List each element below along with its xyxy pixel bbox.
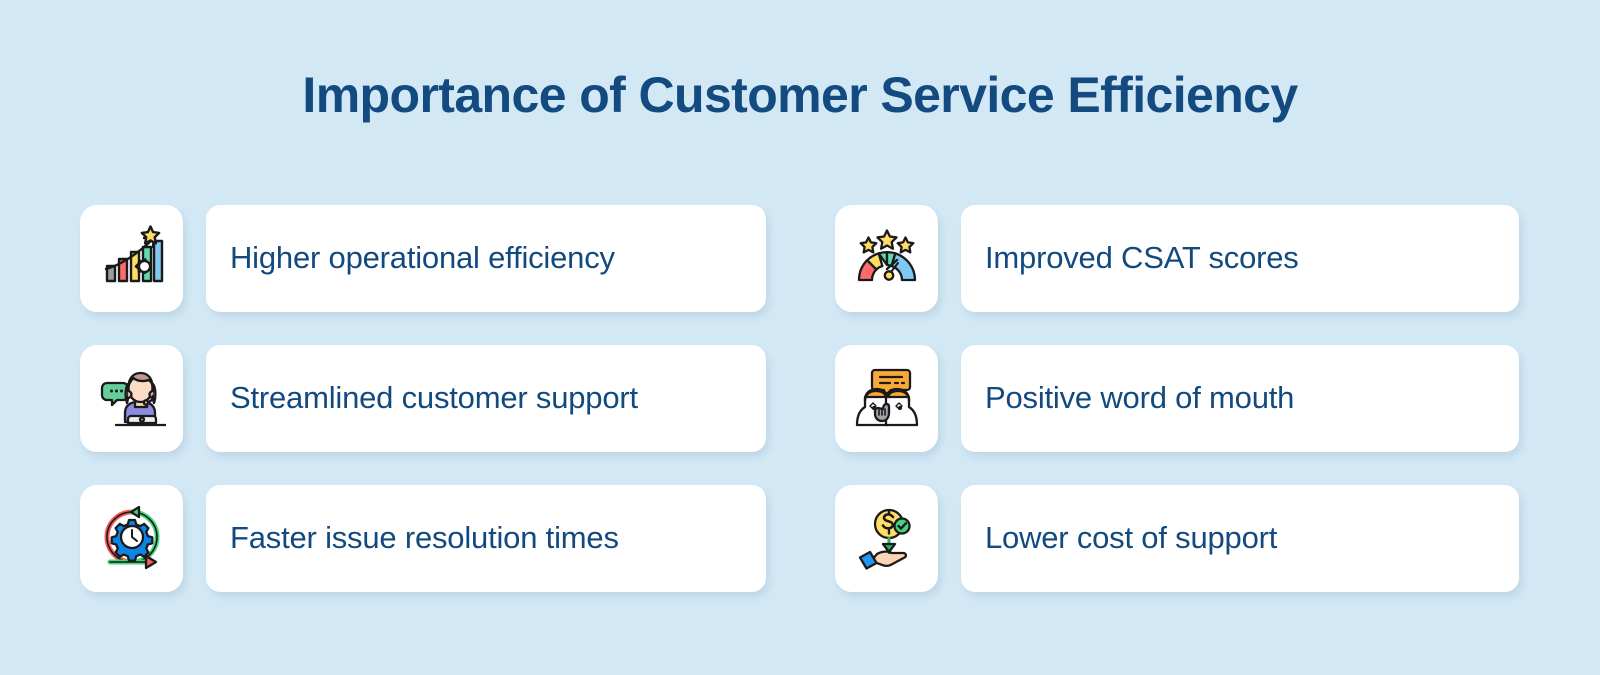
list-item[interactable]: Higher operational efficiency: [80, 205, 766, 312]
list-item[interactable]: Streamlined customer support: [80, 345, 766, 452]
icon-tile: [80, 345, 183, 452]
list-item[interactable]: Lower cost of support: [835, 485, 1519, 592]
two-faces-speech-bubble-icon: [853, 365, 921, 433]
text-card[interactable]: Lower cost of support: [961, 485, 1519, 592]
text-card[interactable]: Streamlined customer support: [206, 345, 766, 452]
list-item-label: Improved CSAT scores: [961, 241, 1315, 275]
list-item-label: Streamlined customer support: [206, 381, 654, 415]
icon-tile: [80, 205, 183, 312]
text-card[interactable]: Higher operational efficiency: [206, 205, 766, 312]
left-column: Higher operational efficiency: [80, 205, 766, 625]
right-column: Improved CSAT scores: [835, 205, 1519, 625]
text-card[interactable]: Improved CSAT scores: [961, 205, 1519, 312]
support-agent-headset-icon: [98, 365, 166, 433]
rating-gauge-stars-icon: [853, 225, 921, 293]
list-item-label: Higher operational efficiency: [206, 241, 631, 275]
icon-tile: [835, 345, 938, 452]
list-item[interactable]: Positive word of mouth: [835, 345, 1519, 452]
list-item-label: Lower cost of support: [961, 521, 1293, 555]
text-card[interactable]: Positive word of mouth: [961, 345, 1519, 452]
growth-chart-gear-star-icon: [98, 225, 166, 293]
icon-tile: [80, 485, 183, 592]
infographic-canvas: Importance of Customer Service Efficienc…: [0, 0, 1600, 675]
clock-gear-arrows-icon: [98, 505, 166, 573]
list-item-label: Positive word of mouth: [961, 381, 1310, 415]
list-item[interactable]: Improved CSAT scores: [835, 205, 1519, 312]
hand-coin-check-icon: [853, 505, 921, 573]
page-title: Importance of Customer Service Efficienc…: [0, 66, 1600, 124]
list-item-label: Faster issue resolution times: [206, 521, 635, 555]
icon-tile: [835, 205, 938, 312]
list-item[interactable]: Faster issue resolution times: [80, 485, 766, 592]
icon-tile: [835, 485, 938, 592]
text-card[interactable]: Faster issue resolution times: [206, 485, 766, 592]
